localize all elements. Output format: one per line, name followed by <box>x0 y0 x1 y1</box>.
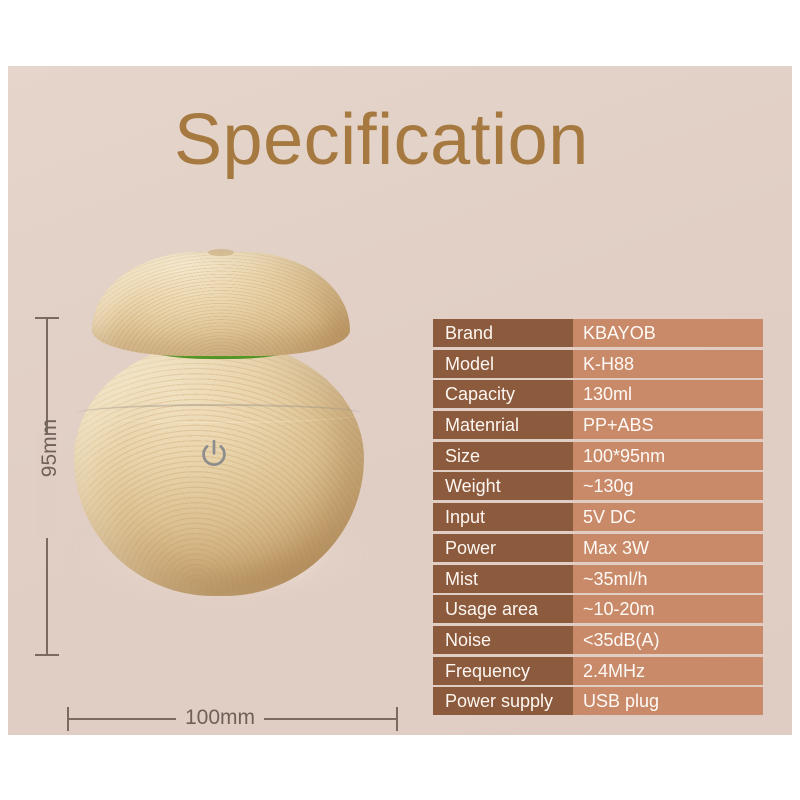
spec-key-cell: Power supply <box>433 687 573 715</box>
spec-key-cell: Matenrial <box>433 411 573 439</box>
height-dimension-cap-top <box>35 317 59 319</box>
table-row: Weight~130g <box>433 472 763 500</box>
spec-value-cell: 100*95nm <box>573 442 763 470</box>
spec-value-cell: Max 3W <box>573 534 763 562</box>
table-row: Capacity130ml <box>433 380 763 408</box>
table-row: Noise<35dB(A) <box>433 626 763 654</box>
spec-key-cell: Size <box>433 442 573 470</box>
power-icon <box>196 436 232 472</box>
diffuser-seam-line <box>76 404 362 423</box>
spec-value-cell: <35dB(A) <box>573 626 763 654</box>
spec-value-cell: 2.4MHz <box>573 657 763 685</box>
spec-value-cell: ~130g <box>573 472 763 500</box>
spec-value-cell: ~10-20m <box>573 595 763 623</box>
width-dimension-cap-right <box>396 707 398 731</box>
table-row: BrandKBAYOB <box>433 319 763 347</box>
table-row: Frequency2.4MHz <box>433 657 763 685</box>
product-illustration <box>60 236 390 656</box>
width-dimension-cap-left <box>67 707 69 731</box>
spec-key-cell: Model <box>433 350 573 378</box>
specification-page: Specification 95mm 100mm Br <box>0 0 800 800</box>
spec-value-cell: ~35ml/h <box>573 565 763 593</box>
diffuser-dome-top <box>92 252 350 356</box>
spec-key-cell: Power <box>433 534 573 562</box>
height-dimension-cap-bottom <box>35 654 59 656</box>
table-row: Size100*95nm <box>433 442 763 470</box>
table-row: MatenrialPP+ABS <box>433 411 763 439</box>
spec-value-cell: PP+ABS <box>573 411 763 439</box>
spec-value-cell: K-H88 <box>573 350 763 378</box>
width-dimension-label: 100mm <box>176 704 264 732</box>
spec-key-cell: Noise <box>433 626 573 654</box>
table-row: Mist~35ml/h <box>433 565 763 593</box>
page-title: Specification <box>174 104 589 176</box>
spec-key-cell: Input <box>433 503 573 531</box>
spec-key-cell: Weight <box>433 472 573 500</box>
table-row: Usage area~10-20m <box>433 595 763 623</box>
table-row: ModelK-H88 <box>433 350 763 378</box>
table-row: PowerMax 3W <box>433 534 763 562</box>
spec-key-cell: Capacity <box>433 380 573 408</box>
table-row: Power supplyUSB plug <box>433 687 763 715</box>
diffuser-mist-nozzle <box>208 249 234 256</box>
specification-panel: Specification 95mm 100mm Br <box>8 66 792 735</box>
spec-key-cell: Mist <box>433 565 573 593</box>
spec-value-cell: 130ml <box>573 380 763 408</box>
spec-key-cell: Frequency <box>433 657 573 685</box>
spec-value-cell: KBAYOB <box>573 319 763 347</box>
height-dimension-label: 95mm <box>38 403 62 493</box>
spec-key-cell: Usage area <box>433 595 573 623</box>
table-row: Input5V DC <box>433 503 763 531</box>
spec-value-cell: 5V DC <box>573 503 763 531</box>
spec-value-cell: USB plug <box>573 687 763 715</box>
specification-table: BrandKBAYOBModelK-H88Capacity130mlMatenr… <box>433 319 763 718</box>
spec-key-cell: Brand <box>433 319 573 347</box>
